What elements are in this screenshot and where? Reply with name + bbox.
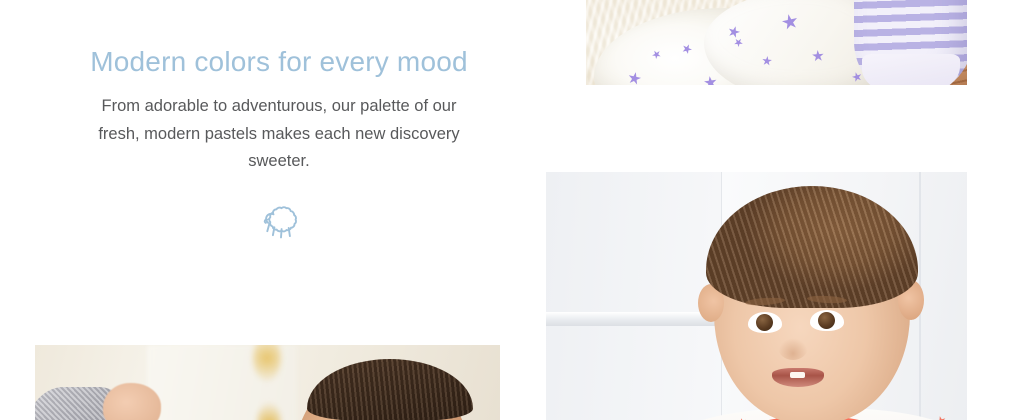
sheep-icon	[256, 202, 302, 240]
wall-panel	[546, 172, 722, 420]
divider	[34, 202, 524, 240]
text-column: Modern colors for every mood From adorab…	[34, 44, 524, 240]
baby-eye-right	[810, 310, 844, 331]
section-description: From adorable to adventurous, our palett…	[34, 93, 524, 176]
baby-tooth	[790, 372, 805, 378]
wall-trim	[546, 312, 722, 326]
pants-cuff	[862, 54, 960, 85]
image-baby-held-by-adult	[35, 345, 500, 420]
baby-eye-left	[748, 312, 782, 333]
image-baby-clothes-on-fur-rug	[586, 0, 967, 85]
image-baby-portrait	[546, 172, 967, 420]
marketing-section: Modern colors for every mood From adorab…	[0, 0, 1025, 420]
page-title: Modern colors for every mood	[34, 44, 524, 79]
